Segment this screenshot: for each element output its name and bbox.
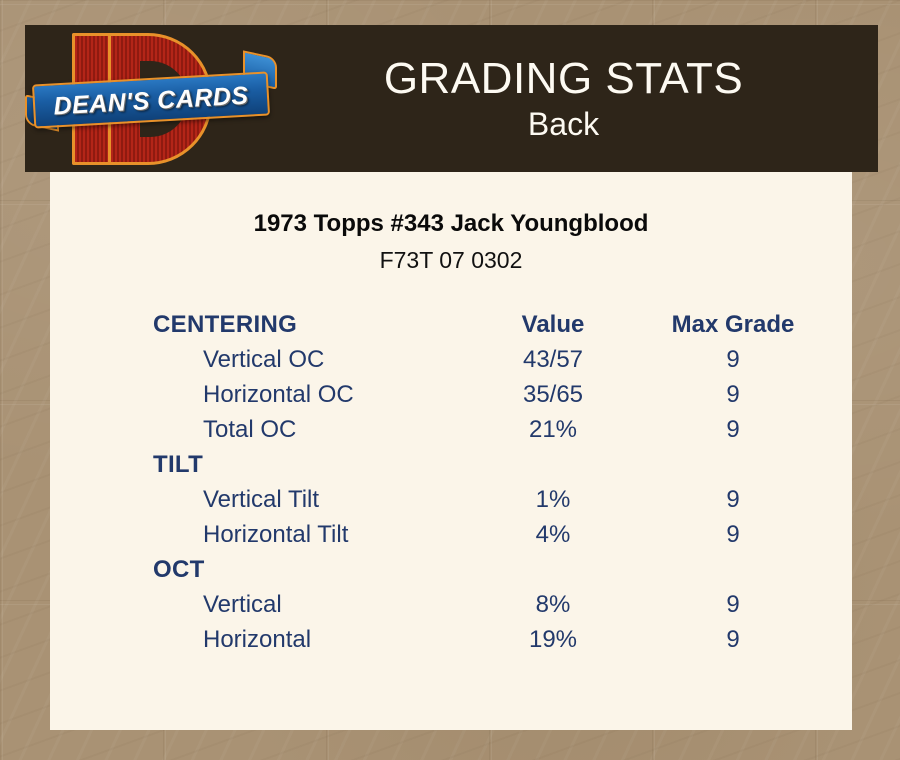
row-value: 1%	[453, 482, 653, 517]
row-grade: 9	[643, 412, 823, 447]
row-label: Total OC	[203, 412, 296, 447]
row-value: 35/65	[453, 377, 653, 412]
card-serial-number: F73T 07 0302	[50, 247, 852, 274]
row-label: Vertical OC	[203, 342, 324, 377]
page-header: DEAN'S CARDS GRADING STATS Back	[25, 25, 878, 172]
table-row: OCT	[50, 552, 852, 587]
row-label: Vertical	[203, 587, 282, 622]
table-row: Vertical 8% 9	[50, 587, 852, 622]
row-label: Vertical Tilt	[203, 482, 319, 517]
table-row: TILT	[50, 447, 852, 482]
table-row: Horizontal 19% 9	[50, 622, 852, 657]
row-label: Horizontal Tilt	[203, 517, 348, 552]
table-row: Horizontal OC 35/65 9	[50, 377, 852, 412]
row-value: 43/57	[453, 342, 653, 377]
row-label: Horizontal	[203, 622, 311, 657]
section-heading-centering: CENTERING	[153, 307, 297, 342]
deans-cards-logo[interactable]: DEAN'S CARDS	[25, 25, 277, 172]
row-value: 8%	[453, 587, 653, 622]
column-header-max-grade: Max Grade	[643, 307, 823, 342]
row-grade: 9	[643, 482, 823, 517]
logo-wordmark: DEAN'S CARDS	[24, 65, 279, 137]
row-grade: 9	[643, 622, 823, 657]
grading-stats-table: CENTERING Value Max Grade Vertical OC 43…	[50, 307, 852, 657]
row-grade: 9	[643, 377, 823, 412]
row-value: 19%	[453, 622, 653, 657]
table-row: CENTERING Value Max Grade	[50, 307, 852, 342]
row-value: 21%	[453, 412, 653, 447]
table-row: Total OC 21% 9	[50, 412, 852, 447]
page-title: GRADING STATS	[277, 56, 850, 102]
row-label: Horizontal OC	[203, 377, 354, 412]
table-row: Vertical Tilt 1% 9	[50, 482, 852, 517]
table-row: Horizontal Tilt 4% 9	[50, 517, 852, 552]
logo-ribbon: DEAN'S CARDS	[25, 72, 277, 130]
card-title: 1973 Topps #343 Jack Youngblood	[50, 210, 852, 238]
page-subtitle: Back	[277, 108, 850, 142]
column-header-value: Value	[453, 307, 653, 342]
header-title-group: GRADING STATS Back	[277, 56, 878, 142]
section-heading-tilt: TILT	[153, 447, 203, 482]
section-heading-oct: OCT	[153, 552, 205, 587]
table-row: Vertical OC 43/57 9	[50, 342, 852, 377]
row-grade: 9	[643, 517, 823, 552]
row-value: 4%	[453, 517, 653, 552]
stats-panel: 1973 Topps #343 Jack Youngblood F73T 07 …	[50, 172, 852, 730]
row-grade: 9	[643, 587, 823, 622]
row-grade: 9	[643, 342, 823, 377]
